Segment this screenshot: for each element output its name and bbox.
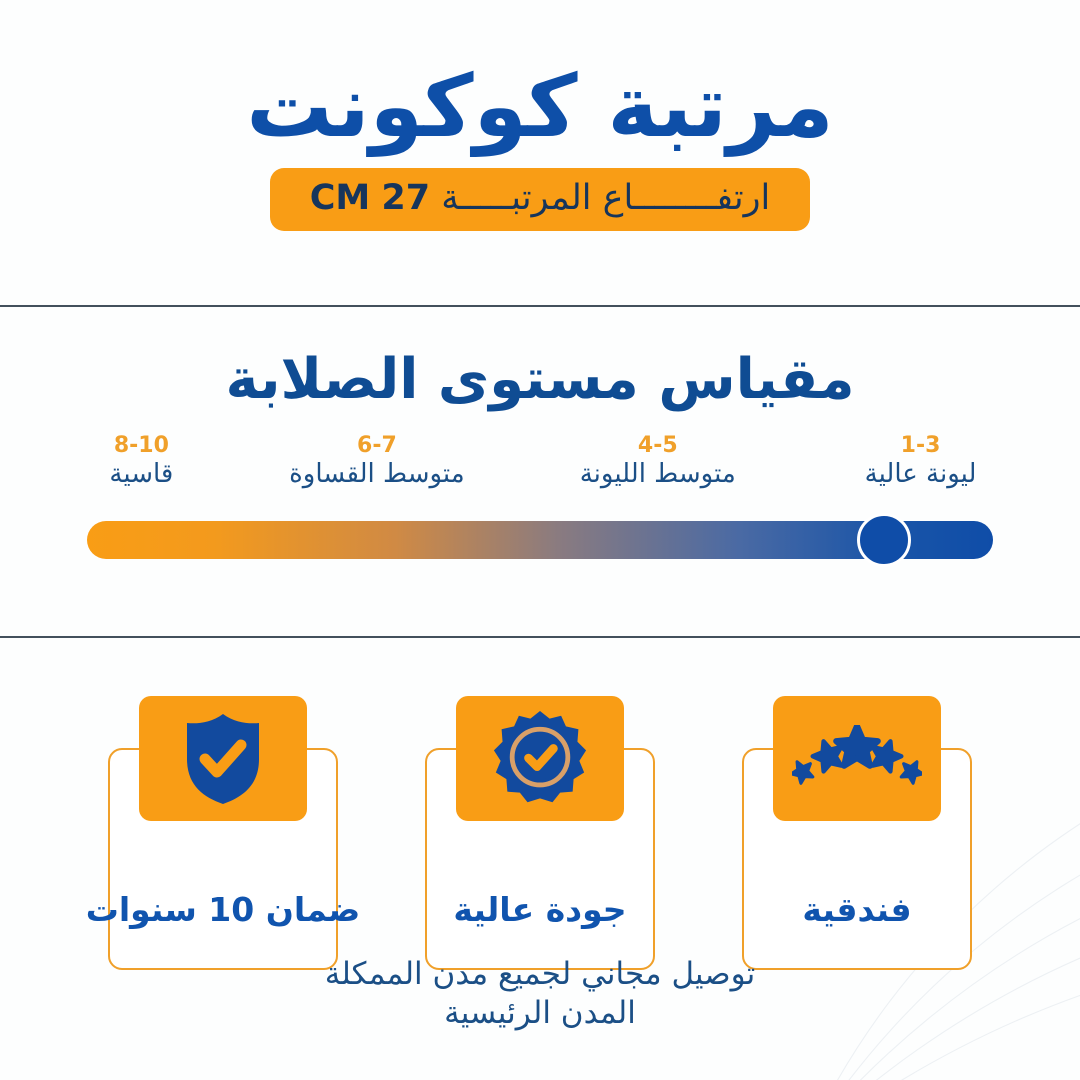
quality-badge-icon: [492, 709, 588, 809]
five-stars-icon: [792, 725, 922, 793]
scale-level-1-range: 1-3: [865, 433, 977, 458]
feature-card-warranty-label: ضمان 10 سنوات: [86, 893, 361, 926]
scale-level-2-range: 4-5: [580, 433, 736, 458]
scale-level-1-label: ليونة عالية: [865, 459, 977, 490]
delivery-note-line-1: توصيل مجاني لجميع مدن الممكلة: [0, 955, 1080, 995]
feature-card-hotel[interactable]: فندقية: [742, 748, 972, 970]
scale-level-3-label: متوسط القساوة: [289, 459, 465, 490]
scale-level-4-range: 8-10: [109, 433, 173, 458]
delivery-note-line-2: المدن الرئيسية: [0, 994, 1080, 1034]
feature-icon-panel: [139, 696, 307, 821]
feature-icon-panel: [456, 696, 624, 821]
scale-level-3: 6-7 متوسط القساوة: [289, 433, 465, 490]
scale-level-3-range: 6-7: [289, 433, 465, 458]
hardness-slider[interactable]: [87, 509, 993, 571]
shield-check-icon: [181, 711, 265, 807]
height-badge-value: 27: [381, 178, 430, 218]
hardness-scale-section: مقياس مستوى الصلابة 1-3 ليونة عالية 4-5 …: [0, 307, 1080, 636]
height-badge-unit: CM: [310, 178, 371, 218]
feature-cards-row: ضمان 10 سنوات جودة عالية: [0, 694, 1080, 970]
feature-icon-panel: [773, 696, 941, 821]
scale-level-4: 8-10 قاسية: [109, 433, 173, 490]
hardness-scale-title: مقياس مستوى الصلابة: [0, 349, 1080, 411]
hardness-scale-legend: 1-3 ليونة عالية 4-5 متوسط الليونة 6-7 مت…: [87, 433, 993, 495]
page-title: مرتبة كوكونت: [246, 62, 833, 152]
scale-level-2: 4-5 متوسط الليونة: [580, 433, 736, 490]
hardness-slider-knob[interactable]: [857, 513, 911, 567]
feature-card-quality-label: جودة عالية: [453, 893, 626, 926]
section-divider-top: [0, 305, 1080, 307]
height-badge: ارتفــــــــاع المرتبـــــة 27 CM: [270, 168, 811, 231]
feature-card-warranty[interactable]: ضمان 10 سنوات: [108, 748, 338, 970]
height-badge-label: ارتفــــــــاع المرتبـــــة: [441, 178, 770, 218]
infographic-poster: مرتبة كوكونت ارتفــــــــاع المرتبـــــة…: [0, 0, 1080, 1080]
scale-level-2-label: متوسط الليونة: [580, 459, 736, 490]
scale-level-1: 1-3 ليونة عالية: [865, 433, 977, 490]
section-divider-bottom: [0, 636, 1080, 638]
feature-card-hotel-label: فندقية: [802, 893, 911, 926]
scale-level-4-label: قاسية: [109, 459, 173, 490]
hero-section: مرتبة كوكونت ارتفــــــــاع المرتبـــــة…: [0, 0, 1080, 305]
delivery-note: توصيل مجاني لجميع مدن الممكلة المدن الرئ…: [0, 955, 1080, 1034]
feature-card-quality[interactable]: جودة عالية: [425, 748, 655, 970]
